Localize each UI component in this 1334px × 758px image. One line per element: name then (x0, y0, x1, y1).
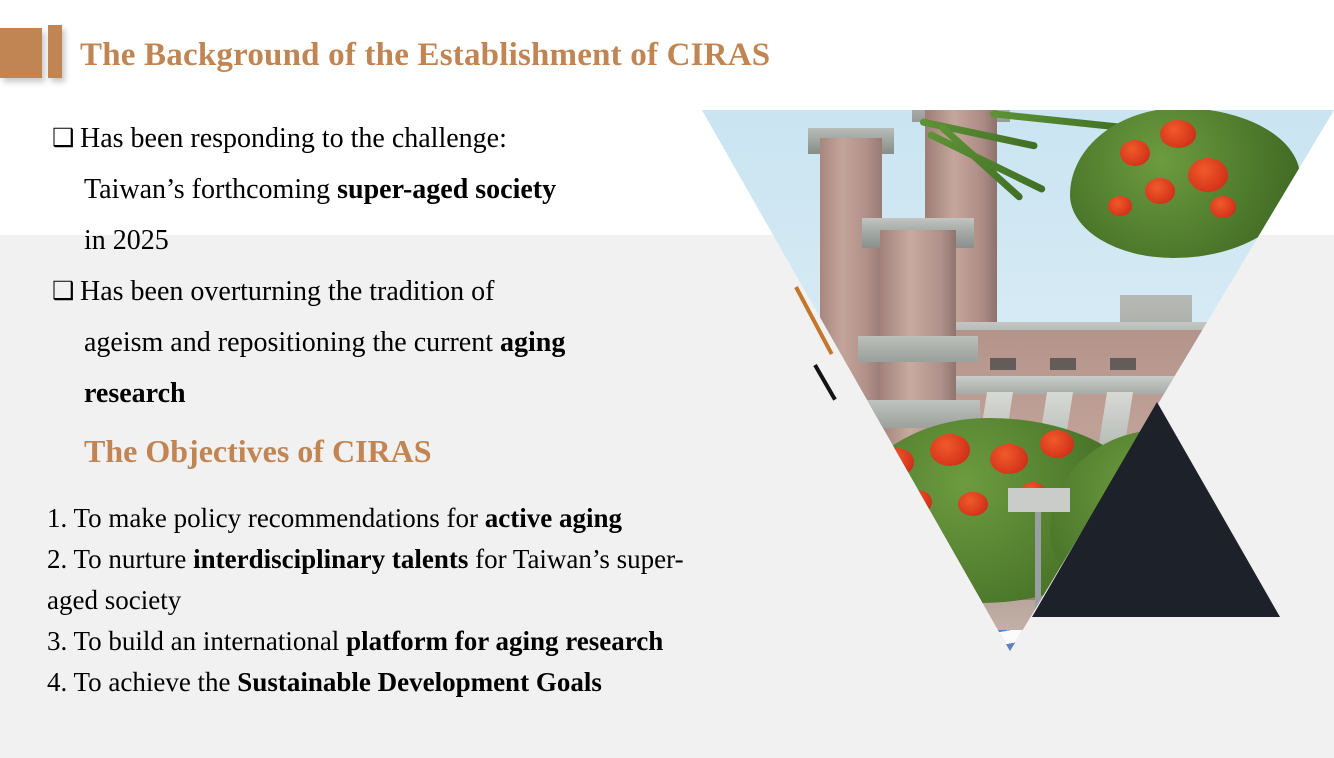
photo-window (990, 358, 1016, 370)
photo-blossom (1145, 178, 1175, 204)
bullet-1-line-3: in 2025 (80, 215, 692, 266)
bullet-2-line-2-bold: aging (500, 327, 565, 358)
photo-blossom (1040, 430, 1074, 458)
photo-lamp-head (1008, 488, 1070, 512)
objective-item-2: 2. To nurture interdisciplinary talents … (47, 539, 887, 580)
objective-4-number: 4. (47, 667, 67, 697)
objective-item-4: 4. To achieve the Sustainable Developmen… (47, 662, 887, 703)
bullet-2-line-2-plain: ageism and repositioning the current (84, 327, 500, 358)
photo-blossom (1120, 140, 1150, 166)
photo-blossom (1108, 196, 1132, 216)
title-accent-bar-wide (0, 28, 42, 78)
slide-canvas: The Background of the Establishment of C… (0, 0, 1334, 758)
bullet-item-1: ❑ Has been responding to the challenge: … (52, 113, 692, 266)
bullet-2-line-1: Has been overturning the tradition of (80, 266, 692, 317)
photo-window (1110, 358, 1136, 370)
objectives-heading: The Objectives of CIRAS (84, 433, 432, 470)
objective-3-plain: To build an international (67, 626, 346, 656)
objective-item-1: 1. To make policy recommendations for ac… (47, 498, 887, 539)
objective-4-bold: Sustainable Development Goals (237, 667, 602, 697)
objectives-list: 1. To make policy recommendations for ac… (47, 498, 887, 703)
bullet-1-line-1: Has been responding to the challenge: (80, 113, 692, 164)
photo-lamp-post (1035, 500, 1041, 610)
objective-2-tail: for Taiwan’s super- (468, 544, 683, 574)
photo-blossom (958, 492, 988, 516)
objective-2-plain: To nurture (67, 544, 193, 574)
photo-blossom (930, 434, 970, 466)
photo-tree-canopy (1050, 430, 1280, 605)
bullet-item-2: ❑ Has been overturning the tradition of … (52, 266, 692, 419)
objective-item-3: 3. To build an international platform fo… (47, 621, 887, 662)
bullet-2-line-3: research (80, 368, 692, 419)
bullet-1-line-2-plain: Taiwan’s forthcoming (84, 174, 337, 205)
photo-blossom (902, 490, 932, 514)
photo-brace (1157, 392, 1193, 456)
bullet-list: ❑ Has been responding to the challenge: … (52, 113, 692, 419)
objective-1-number: 1. (47, 503, 67, 533)
objective-3-bold: platform for aging research (346, 626, 663, 656)
title-accent-bar-narrow (48, 25, 62, 78)
photo-blossom (1160, 120, 1196, 148)
objective-3-number: 3. (47, 626, 67, 656)
photo-window (1170, 472, 1200, 492)
photo-blossom (880, 448, 914, 476)
bullet-square-icon: ❑ (52, 266, 80, 317)
bullet-square-icon: ❑ (52, 113, 80, 164)
page-title: The Background of the Establishment of C… (80, 37, 770, 74)
objective-2-bold: interdisciplinary talents (193, 544, 468, 574)
objective-1-bold: active aging (485, 503, 622, 533)
objective-item-2-wrap: aged society (47, 580, 887, 621)
objective-1-plain: To make policy recommendations for (67, 503, 485, 533)
bullet-1-line-2: Taiwan’s forthcoming super-aged society (80, 164, 692, 215)
photo-blossom (1188, 158, 1228, 192)
objective-4-plain: To achieve the (67, 667, 237, 697)
bullet-1-line-2-bold: super-aged society (337, 174, 556, 205)
objective-2-number: 2. (47, 544, 67, 574)
photo-window (1050, 358, 1076, 370)
photo-blossom (990, 444, 1028, 474)
photo-blossom (1210, 196, 1236, 218)
photo-tower-c-cap2 (858, 336, 978, 362)
accent-line-black (813, 364, 836, 401)
photo-tower-a (820, 138, 882, 468)
bullet-2-line-2: ageism and repositioning the current agi… (80, 317, 692, 368)
